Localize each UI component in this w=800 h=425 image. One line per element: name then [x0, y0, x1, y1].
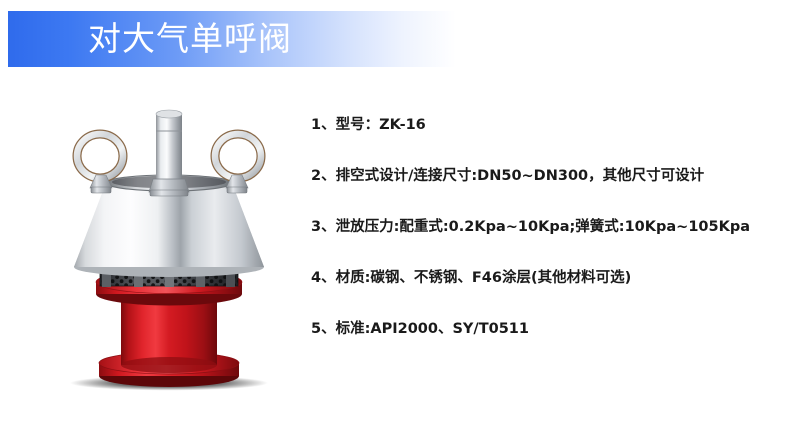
spec-item-design: 2、排空式设计/连接尺寸:DN50~DN300，其他尺寸可设计 — [311, 151, 791, 202]
valve-illustration — [38, 95, 300, 400]
header-banner: 对大气单呼阀 — [8, 11, 456, 67]
spec-item-pressure: 3、泄放压力:配重式:0.2Kpa~10Kpa;弹簧式:10Kpa~105Kpa — [311, 202, 791, 253]
product-image — [38, 95, 300, 400]
spec-item-standard: 5、标准:API2000、SY/T0511 — [311, 304, 791, 355]
page-title: 对大气单呼阀 — [88, 11, 292, 67]
spec-list: 1、型号：ZK-16 2、排空式设计/连接尺寸:DN50~DN300，其他尺寸可… — [311, 100, 791, 355]
center-shaft — [149, 110, 189, 196]
spec-item-model: 1、型号：ZK-16 — [311, 100, 791, 151]
page-root: 对大气单呼阀 — [0, 0, 800, 425]
spec-item-material: 4、材质:碳钢、不锈钢、F46涂层(其他材料可选) — [311, 253, 791, 304]
